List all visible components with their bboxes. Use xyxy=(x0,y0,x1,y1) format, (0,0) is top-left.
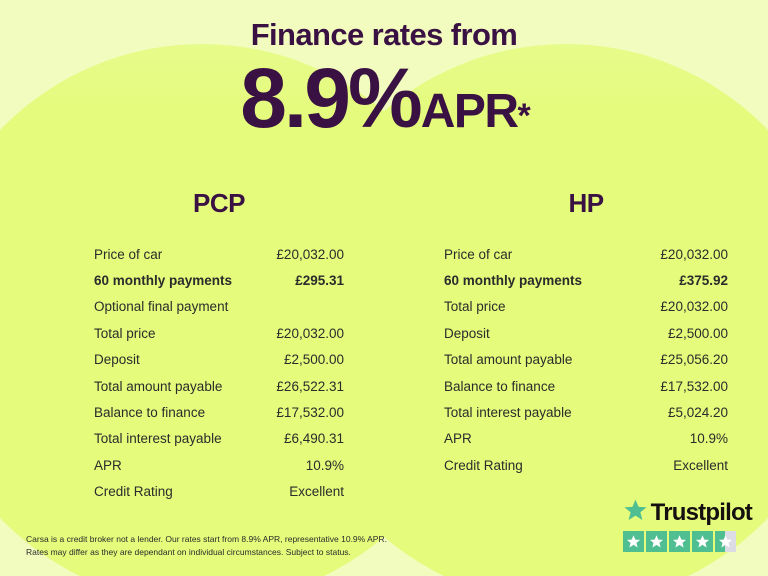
row-label: Balance to finance xyxy=(444,379,555,394)
headline-rate: 8.9% APR * xyxy=(0,56,768,140)
table-row: 60 monthly payments £375.92 xyxy=(444,267,728,293)
finance-comparison: PCP Price of car £20,032.00 60 monthly p… xyxy=(0,188,768,505)
row-label: Price of car xyxy=(94,247,162,262)
table-row: Total amount payable £26,522.31 xyxy=(94,373,344,399)
row-label: Price of car xyxy=(444,247,512,262)
row-value: £26,522.31 xyxy=(276,379,344,394)
row-label: Credit Rating xyxy=(94,484,173,499)
trustpilot-wordmark: Trustpilot xyxy=(623,498,752,527)
rate-footnote-asterisk: * xyxy=(518,99,528,133)
row-label: Total interest payable xyxy=(444,405,572,420)
table-row: Total price £20,032.00 xyxy=(444,294,728,320)
row-value: £20,032.00 xyxy=(660,247,728,262)
table-row: Credit Rating Excellent xyxy=(444,452,728,478)
row-label: Deposit xyxy=(444,326,490,341)
row-value: £2,500.00 xyxy=(668,326,728,341)
header: Finance rates from 8.9% APR * xyxy=(0,0,768,140)
row-label: Total price xyxy=(94,326,156,341)
row-value: £17,532.00 xyxy=(660,379,728,394)
trustpilot-star-icon xyxy=(623,498,648,527)
row-value: £2,500.00 xyxy=(284,352,344,367)
row-label: Total amount payable xyxy=(94,379,222,394)
trustpilot-rating[interactable]: Trustpilot xyxy=(623,498,752,552)
hp-rows: Price of car £20,032.00 60 monthly payme… xyxy=(444,241,728,478)
row-value: £6,490.31 xyxy=(284,431,344,446)
table-row: Total interest payable £5,024.20 xyxy=(444,399,728,425)
row-value: £20,032.00 xyxy=(276,247,344,262)
column-title-hp: HP xyxy=(444,188,728,219)
row-label: APR xyxy=(444,431,472,446)
table-row: Balance to finance £17,532.00 xyxy=(444,373,728,399)
table-row: Deposit £2,500.00 xyxy=(94,347,344,373)
column-title-pcp: PCP xyxy=(94,188,344,219)
row-value: Excellent xyxy=(673,458,728,473)
row-label: Credit Rating xyxy=(444,458,523,473)
pcp-rows: Price of car £20,032.00 60 monthly payme… xyxy=(94,241,344,505)
legal-disclaimer: Carsa is a credit broker not a lender. O… xyxy=(26,533,387,559)
table-row: 60 monthly payments £295.31 xyxy=(94,267,344,293)
table-row: APR 10.9% xyxy=(444,426,728,452)
row-label: Deposit xyxy=(94,352,140,367)
table-row: Price of car £20,032.00 xyxy=(94,241,344,267)
star-icon xyxy=(646,531,667,552)
row-label: Total interest payable xyxy=(94,431,222,446)
row-label: Total price xyxy=(444,299,506,314)
star-icon xyxy=(669,531,690,552)
table-row: Balance to finance £17,532.00 xyxy=(94,399,344,425)
row-value: £20,032.00 xyxy=(660,299,728,314)
page-title: Finance rates from xyxy=(0,0,768,52)
trustpilot-stars xyxy=(623,531,752,552)
row-value: 10.9% xyxy=(306,458,344,473)
trustpilot-name: Trustpilot xyxy=(651,501,752,525)
table-row: Credit Rating Excellent xyxy=(94,478,344,504)
row-value: £295.31 xyxy=(295,273,344,288)
finance-column-hp: HP Price of car £20,032.00 60 monthly pa… xyxy=(384,188,768,505)
table-row: Total interest payable £6,490.31 xyxy=(94,426,344,452)
row-value: Excellent xyxy=(289,484,344,499)
row-label: 60 monthly payments xyxy=(444,273,582,288)
table-row: Total price £20,032.00 xyxy=(94,320,344,346)
table-row: Optional final payment xyxy=(94,294,344,320)
table-row: Total amount payable £25,056.20 xyxy=(444,347,728,373)
row-value: £25,056.20 xyxy=(660,352,728,367)
disclaimer-line-1: Carsa is a credit broker not a lender. O… xyxy=(26,533,387,546)
rate-suffix: APR xyxy=(421,88,518,136)
row-value: £5,024.20 xyxy=(668,405,728,420)
disclaimer-line-2: Rates may differ as they are dependant o… xyxy=(26,546,387,559)
finance-column-pcp: PCP Price of car £20,032.00 60 monthly p… xyxy=(0,188,384,505)
table-row: APR 10.9% xyxy=(94,452,344,478)
row-label: 60 monthly payments xyxy=(94,273,232,288)
row-value: £20,032.00 xyxy=(276,326,344,341)
row-value: £17,532.00 xyxy=(276,405,344,420)
row-label: Total amount payable xyxy=(444,352,572,367)
row-label: Balance to finance xyxy=(94,405,205,420)
row-value: £375.92 xyxy=(679,273,728,288)
promo-graphic: Finance rates from 8.9% APR * PCP Price … xyxy=(0,0,768,576)
table-row: Deposit £2,500.00 xyxy=(444,320,728,346)
table-row: Price of car £20,032.00 xyxy=(444,241,728,267)
star-icon xyxy=(692,531,713,552)
row-value: 10.9% xyxy=(690,431,728,446)
half-star-icon xyxy=(715,531,736,552)
row-label: APR xyxy=(94,458,122,473)
star-icon xyxy=(623,531,644,552)
row-label: Optional final payment xyxy=(94,299,228,314)
rate-value: 8.9% xyxy=(240,56,419,140)
